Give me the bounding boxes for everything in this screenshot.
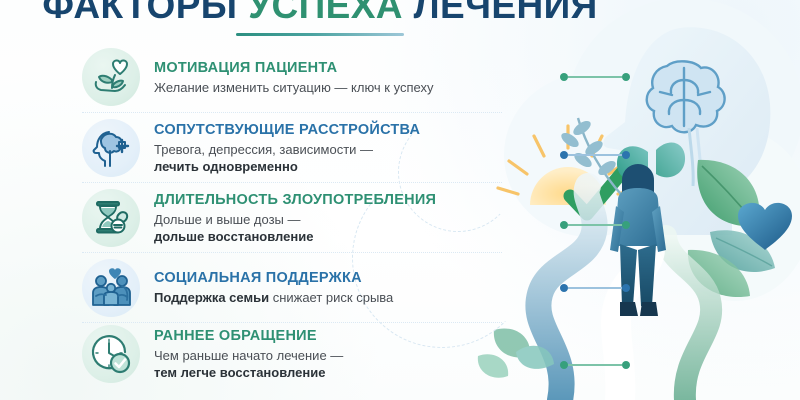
sub-plain: Тревога, депрессия, зависимости — (154, 142, 373, 157)
list-item-sub-line: Чем раньше начато лечение — (154, 347, 502, 364)
sub-plain: снижает риск срыва (269, 290, 393, 305)
family-heart-icon (82, 259, 140, 317)
rising-sun (498, 126, 638, 205)
list-item-sub-line: Дольше и выше дозы — (154, 211, 502, 228)
recovery-journey-illustration (470, 0, 800, 400)
list-item-text: СОЦИАЛЬНАЯ ПОДДЕРЖКА Поддержка семьи сни… (154, 269, 502, 306)
large-leaves (559, 118, 775, 297)
green-checkmark (570, 163, 630, 214)
page-title: ФАКТОРЫ УСПЕХА ЛЕЧЕНИЯ (0, 0, 640, 36)
list-item-sub-line: дольше восстановление (154, 228, 502, 245)
list-item[interactable]: СОПУТСТВУЮЩИЕ РАССТРОЙСТВА Тревога, депр… (82, 112, 502, 182)
list-item-sub-line: тем легче восстановление (154, 364, 502, 381)
connector-bar (568, 364, 622, 366)
hourglass-pills-icon (82, 189, 140, 247)
title-part-3: ЛЕЧЕНИЯ (403, 0, 598, 26)
clock-check-icon (82, 325, 140, 383)
list-item-sub-line: лечить одновременно (154, 158, 502, 175)
connector-dot-left (560, 73, 568, 81)
list-item-heading: СОЦИАЛЬНАЯ ПОДДЕРЖКА (154, 269, 502, 287)
connector-dot-right (622, 151, 630, 159)
list-item-sub-line: Тревога, депрессия, зависимости — (154, 141, 502, 158)
connector-dot-left (560, 151, 568, 159)
list-item-heading: МОТИВАЦИЯ ПАЦИЕНТА (154, 59, 502, 77)
connector-dot-left (560, 284, 568, 292)
sub-bold: тем легче восстановление (154, 365, 325, 380)
list-item-text: СОПУТСТВУЮЩИЕ РАССТРОЙСТВА Тревога, депр… (154, 121, 502, 175)
connector-bar (568, 154, 622, 156)
connector-line (560, 284, 630, 292)
hand-holding-plant-heart-icon (82, 48, 140, 106)
infographic-poster: ФАКТОРЫ УСПЕХА ЛЕЧЕНИЯ МОТИВАЦИЯ ПА (0, 0, 800, 400)
sub-bold: Поддержка семьи (154, 290, 269, 305)
list-item[interactable]: СОЦИАЛЬНАЯ ПОДДЕРЖКА Поддержка семьи сни… (82, 252, 502, 322)
sub-plain: Дольше и выше дозы — (154, 212, 301, 227)
connector-bar (568, 287, 622, 289)
walking-person (610, 164, 666, 316)
connector-dot-right (622, 361, 630, 369)
connector-line (560, 151, 630, 159)
connector-line (560, 73, 630, 81)
list-item-text: МОТИВАЦИЯ ПАЦИЕНТА Желание изменить ситу… (154, 59, 502, 96)
title-part-1: ФАКТОРЫ (42, 0, 248, 26)
list-item[interactable]: ДЛИТЕЛЬНОСТЬ ЗЛОУПОТРЕБЛЕНИЯ Дольше и вы… (82, 182, 502, 252)
head-brain-plus-icon (82, 119, 140, 177)
connector-line (560, 361, 630, 369)
connector-dot-right (622, 221, 630, 229)
connector-dot-right (622, 284, 630, 292)
connector-dot-left (560, 221, 568, 229)
connector-bar (568, 76, 622, 78)
sub-plain: Чем раньше начато лечение — (154, 348, 343, 363)
list-item-heading: РАННЕЕ ОБРАЩЕНИЕ (154, 327, 502, 345)
list-item[interactable]: РАННЕЕ ОБРАЩЕНИЕ Чем раньше начато лечен… (82, 322, 502, 384)
list-item-text: РАННЕЕ ОБРАЩЕНИЕ Чем раньше начато лечен… (154, 327, 502, 381)
connector-dot-right (622, 73, 630, 81)
list-item-text: ДЛИТЕЛЬНОСТЬ ЗЛОУПОТРЕБЛЕНИЯ Дольше и вы… (154, 191, 502, 245)
sub-bold: дольше восстановление (154, 229, 313, 244)
list-item[interactable]: МОТИВАЦИЯ ПАЦИЕНТА Желание изменить ситу… (82, 42, 502, 112)
factors-list: МОТИВАЦИЯ ПАЦИЕНТА Желание изменить ситу… (82, 42, 502, 384)
connector-line (560, 221, 630, 229)
list-item-heading: СОПУТСТВУЮЩИЕ РАССТРОЙСТВА (154, 121, 502, 139)
list-item-sub-line: Поддержка семьи снижает риск срыва (154, 289, 502, 306)
sub-bold: лечить одновременно (154, 159, 298, 174)
connector-bar (568, 224, 622, 226)
title-underline (236, 33, 404, 36)
list-item-sub-line: Желание изменить ситуацию — ключ к успех… (154, 79, 502, 96)
list-item-heading: ДЛИТЕЛЬНОСТЬ ЗЛОУПОТРЕБЛЕНИЯ (154, 191, 502, 209)
connector-dot-left (560, 361, 568, 369)
title-part-highlight: УСПЕХА (248, 0, 403, 26)
heart-icon (738, 203, 792, 250)
head-profile-with-brain (603, 27, 770, 235)
sub-plain: Желание изменить ситуацию — ключ к успех… (154, 80, 433, 95)
